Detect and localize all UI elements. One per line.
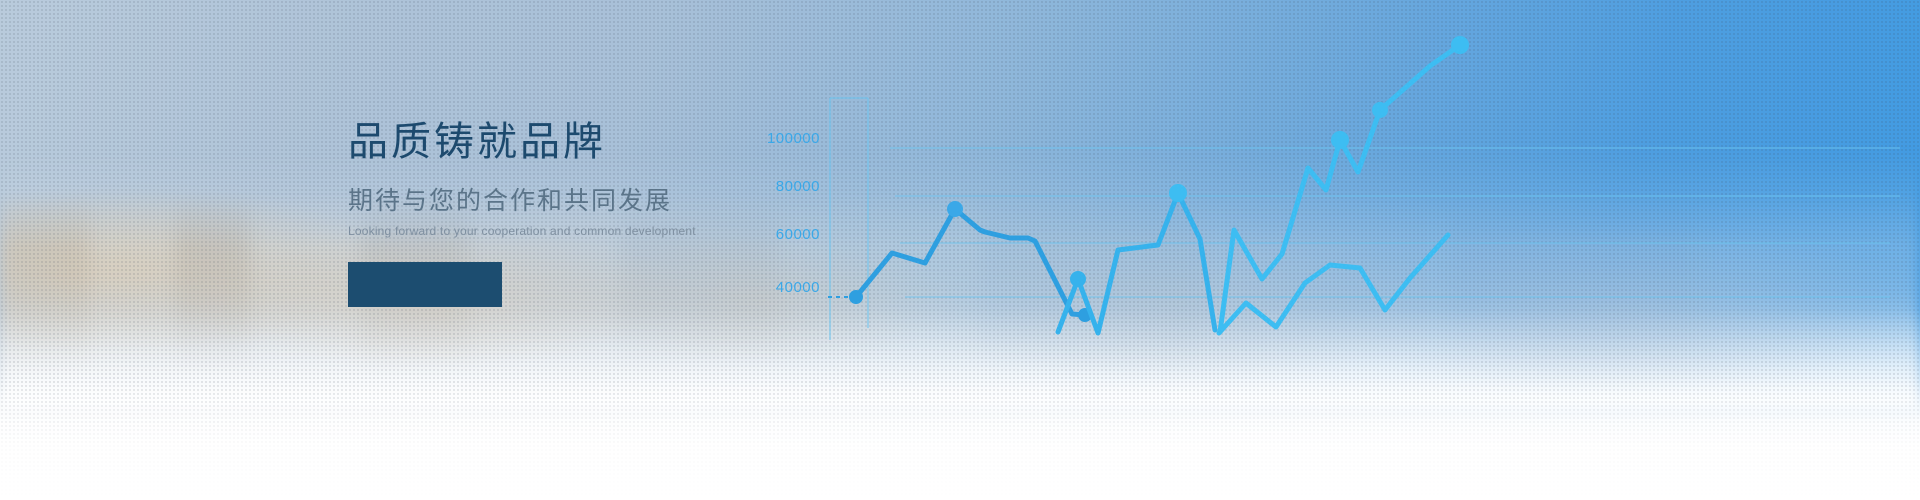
chart-point-marker [1070,271,1086,287]
banner-copy: 品质铸就品牌 期待与您的合作和共同发展 Looking forward to y… [348,120,868,307]
cta-button[interactable] [348,262,502,307]
page-title: 品质铸就品牌 [348,120,868,164]
line-chart: 100000 80000 60000 40000 [760,0,1920,420]
hero-banner: 100000 80000 60000 40000 [0,0,1920,500]
chart-point-marker [1331,131,1349,149]
banner-subheadline-english: Looking forward to your cooperation and … [348,224,868,238]
chart-point-marker [1169,184,1187,202]
banner-subheadline: 期待与您的合作和共同发展 [348,186,868,216]
chart-point-marker [1372,102,1388,118]
chart-line-segment-4 [1219,235,1448,333]
chart-line-segment-3 [1220,45,1460,332]
chart-gridlines [890,148,1900,297]
chart-point-marker [947,201,963,217]
chart-svg: 100000 80000 60000 40000 [760,0,1920,420]
chart-point-marker [1451,36,1469,54]
chart-line-segment-1 [856,209,1085,315]
